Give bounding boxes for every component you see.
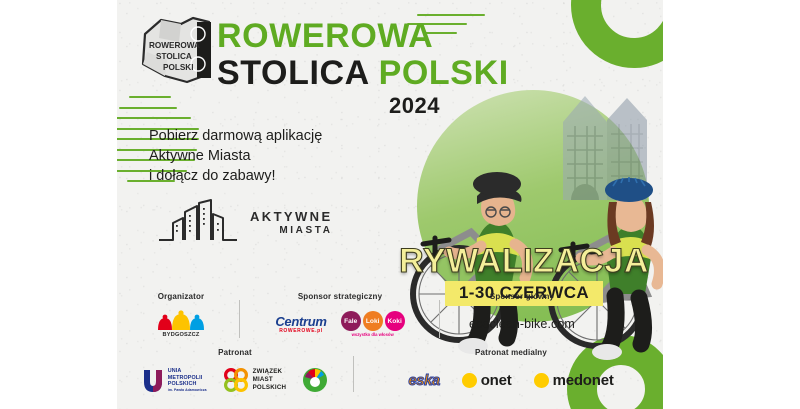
headline-line-1: ROWEROWA xyxy=(217,18,509,54)
caption-sponsor-glowny: Sponsor główny xyxy=(447,292,597,301)
centrum-text: Centrum xyxy=(275,315,326,328)
copy-line-2: Aktywne Miasta xyxy=(149,146,322,166)
unia-metropolii-polskich-logo[interactable]: UNIA METROPOLII POLSKICH im. Pawła Adamo… xyxy=(142,368,207,393)
copy-line-1: Pobierz darmową aplikację xyxy=(149,126,322,146)
centrum-rowerowe-logo[interactable]: Centrum ROWEROWE.pl xyxy=(275,315,326,334)
screenshot-canvas: ROWEROWA STOLICA POLSKI ROWEROWA STOLICA… xyxy=(0,0,800,409)
ecoclean-bike-link[interactable]: ecoclean-bike.com xyxy=(469,317,575,331)
sponsor-slot-glowny: Sponsor główny ecoclean-bike.com xyxy=(447,292,597,341)
media-patronage-slot: Patronat medialny eska onet medonet xyxy=(363,348,659,397)
green-arc-top-right xyxy=(571,0,663,68)
aktywne-miasta-wordmark: AKTYWNE MIASTA xyxy=(250,210,333,236)
fale-loki-koki-logo[interactable]: Fale Loki Koki wszystko dla włosów xyxy=(341,311,405,337)
caption-sponsor-strategiczny: Sponsor strategiczny xyxy=(245,292,435,301)
onet-dot-icon xyxy=(462,373,477,388)
ump-line-2: METROPOLII xyxy=(168,375,207,382)
zmp-line-1: ZWIĄZEK xyxy=(253,368,287,376)
radio-eska-logo[interactable]: eska xyxy=(408,372,439,389)
zmp-line-2: MIAST xyxy=(253,376,287,384)
onet-wordmark: onet xyxy=(481,372,512,389)
svg-text:STOLICA: STOLICA xyxy=(156,52,192,61)
aktywne-miasta-logo: AKTYWNE MIASTA xyxy=(157,198,333,248)
patronage-slot: Patronat UNIA METROPOLII POLSKICH im. Pa… xyxy=(123,348,347,397)
banner-copy: Pobierz darmową aplikację Aktywne Miasta… xyxy=(149,126,322,186)
ump-subtitle: im. Pawła Adamowicza xyxy=(168,388,207,392)
divider-1 xyxy=(239,300,240,338)
competition-title: RYWALIZACJA xyxy=(389,243,659,279)
divider-2 xyxy=(439,300,440,338)
fale-circle: Fale xyxy=(341,311,361,331)
headline-stolica: STOLICA xyxy=(217,54,369,92)
koki-circle: Koki xyxy=(385,311,405,331)
copy-line-3: i dołącz do zabawy! xyxy=(149,166,322,186)
sponsor-slot-organizator: Organizator BYDGOSZCZ xyxy=(127,292,235,341)
svg-text:ROWEROWA: ROWEROWA xyxy=(149,41,200,50)
medonet-wordmark: medonet xyxy=(553,372,614,389)
caption-patronat: Patronat xyxy=(123,348,347,357)
caption-patronat-medialny: Patronat medialny xyxy=(363,348,659,357)
rowerowe-text: ROWEROWE.pl xyxy=(275,328,326,334)
ump-line-3: POLSKICH xyxy=(168,381,207,388)
zmp-line-3: POLSKICH xyxy=(253,384,287,392)
unia-miasteczek-polskich-logo[interactable] xyxy=(302,367,328,393)
bydgoszcz-wordmark: BYDGOSZCZ xyxy=(154,332,208,338)
promo-banner: ROWEROWA STOLICA POLSKI ROWEROWA STOLICA… xyxy=(117,0,663,409)
fale-loki-koki-tagline: wszystko dla włosów xyxy=(341,332,405,337)
caption-organizator: Organizator xyxy=(127,292,235,301)
ump-line-1: UNIA xyxy=(168,368,207,375)
sponsor-slot-strategiczny: Sponsor strategiczny Centrum ROWEROWE.pl… xyxy=(245,292,435,341)
city-skyline-icon xyxy=(157,198,241,248)
medonet-logo[interactable]: medonet xyxy=(534,372,614,389)
aktywne-miasta-line-2: MIASTA xyxy=(250,225,333,236)
aktywne-miasta-line-1: AKTYWNE xyxy=(250,210,333,225)
onet-logo[interactable]: onet xyxy=(462,372,512,389)
zwiazek-miast-polskich-logo[interactable]: ZWIĄZEK MIAST POLSKICH xyxy=(223,367,287,393)
loki-circle: Loki xyxy=(363,311,383,331)
medonet-dot-icon xyxy=(534,373,549,388)
svg-text:POLSKI: POLSKI xyxy=(163,63,193,72)
bydgoszcz-logo[interactable]: BYDGOSZCZ xyxy=(154,310,208,338)
divider-3 xyxy=(353,356,354,392)
